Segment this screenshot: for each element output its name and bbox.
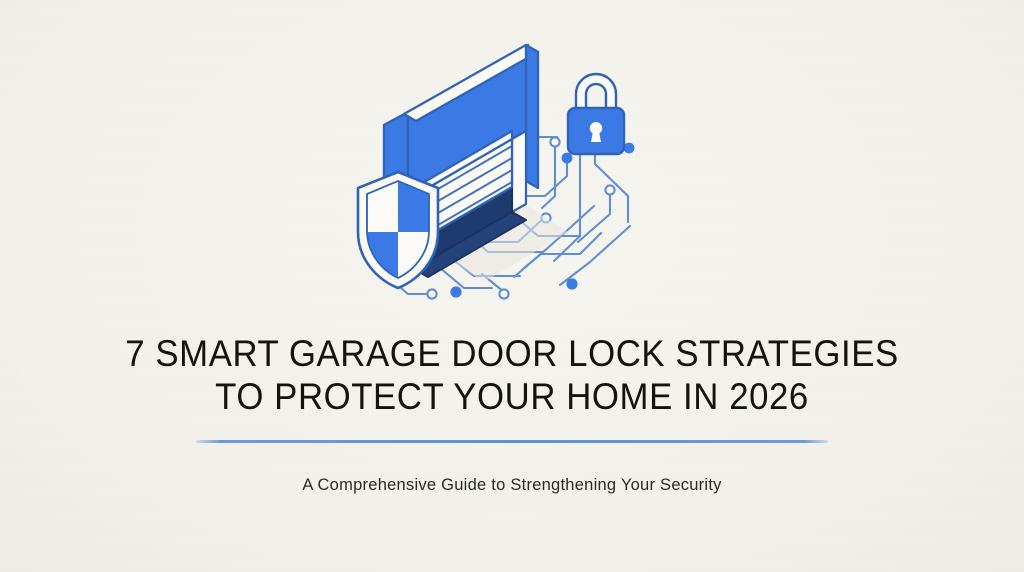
page-title: 7 Smart Garage Door Lock Strategies to P… xyxy=(31,332,994,418)
title-block: 7 Smart Garage Door Lock Strategies to P… xyxy=(0,332,1024,496)
page-title-line-2: to Protect Your Home in 2026 xyxy=(31,375,994,418)
page-title-line-1: 7 Smart Garage Door Lock Strategies xyxy=(31,332,994,375)
garage-right-jamb xyxy=(512,131,526,212)
garage-right-pillar xyxy=(526,45,538,188)
page-subtitle: A Comprehensive Guide to Strengthening Y… xyxy=(0,474,1024,496)
padlock-icon xyxy=(568,74,624,154)
title-card: 7 Smart Garage Door Lock Strategies to P… xyxy=(0,0,1024,572)
hero-illustration xyxy=(342,36,682,328)
title-divider xyxy=(196,440,828,443)
